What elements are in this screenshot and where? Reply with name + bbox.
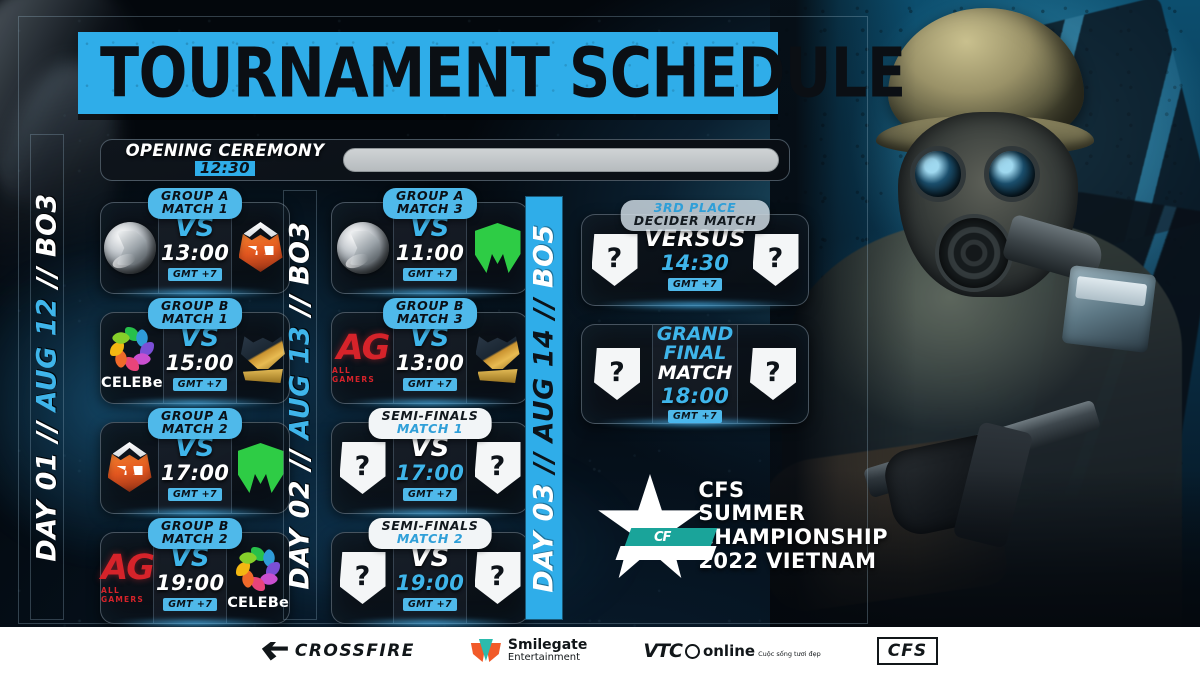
match-time: 19:00 xyxy=(396,571,464,595)
match-tag-line2: MATCH 2 xyxy=(382,533,479,546)
title-banner: TOURNAMENT SCHEDULE xyxy=(78,32,778,114)
page-title: TOURNAMENT SCHEDULE xyxy=(100,27,730,119)
match-tag-line2: MATCH 1 xyxy=(161,313,229,326)
green-shield-logo-icon xyxy=(475,223,521,273)
vtc-circle-icon xyxy=(685,644,700,659)
sphere-logo-icon xyxy=(337,222,389,274)
day-number-3: DAY 03 xyxy=(529,482,560,592)
match-card[interactable]: SEMI-FINALS MATCH 1 ? VS 17:00 GMT +7 ? xyxy=(331,422,529,514)
vs-label: VS xyxy=(180,325,220,351)
day-label-2: DAY 02 // AUG 13 // BO3 xyxy=(283,190,317,620)
day-date-2: AUG 13 xyxy=(285,325,316,439)
match-card[interactable]: GROUP B MATCH 3 AGALL GAMERS VS 13:00 GM… xyxy=(331,312,529,404)
day-label-3: DAY 03 // AUG 14 // BO5 xyxy=(525,196,563,620)
crossfire-label: CROSSFIRE xyxy=(295,641,415,661)
match-card[interactable]: GROUP B MATCH 1 CELEBe VS 15:00 GMT +7 xyxy=(100,312,290,404)
match-tag-line2: MATCH 3 xyxy=(396,313,464,326)
match-tag: GROUP B MATCH 3 xyxy=(383,298,477,329)
event-logo: CF CFS SUMMER CHAMPIONSHIP 2022 VIETNAM xyxy=(596,474,936,578)
team-right xyxy=(232,203,289,293)
day-format-1: BO3 xyxy=(32,193,63,257)
match-time: 11:00 xyxy=(396,241,464,265)
team-left xyxy=(332,203,393,293)
vs-label: VS xyxy=(175,215,215,241)
grand-final-info: GRAND FINAL MATCH 18:00 GMT +7 xyxy=(652,325,738,423)
tbd-shield-logo-icon: ? xyxy=(340,442,386,494)
celebe-logo-icon: CELEBe xyxy=(227,546,289,611)
vtc-online-label: online xyxy=(703,642,755,660)
team-left xyxy=(101,203,158,293)
match-card[interactable]: 3RD PLACE DECIDER MATCH ? VERSUS 14:30 G… xyxy=(581,214,809,306)
match-tag: 3RD PLACE DECIDER MATCH xyxy=(621,200,770,231)
celebe-label: CELEBe xyxy=(227,595,289,611)
vs-label: VS xyxy=(410,545,450,571)
event-line-3: 2022 VIETNAM xyxy=(698,550,936,574)
allgamers-logo-icon: AGALL GAMERS xyxy=(101,552,153,604)
match-time: 18:00 xyxy=(661,384,729,408)
celebe-logo-icon: CELEBe xyxy=(101,326,163,391)
day-column-1: DAY 01 // AUG 12 // BO3 OPENING CEREMONY… xyxy=(30,134,290,620)
vs-label: VS xyxy=(410,215,450,241)
sponsor-vtc-online: VTC online Cuộc sống tươi đẹp xyxy=(643,640,820,662)
tbd-shield-logo-icon: ? xyxy=(750,348,796,400)
smilegate-label: Smilegate xyxy=(508,638,587,653)
vs-label: VERSUS xyxy=(644,229,746,251)
match-time: 17:00 xyxy=(396,461,464,485)
match-timezone: GMT +7 xyxy=(403,488,457,501)
match-timezone: GMT +7 xyxy=(403,378,457,391)
match-timezone: GMT +7 xyxy=(403,598,457,611)
grand-final-card[interactable]: ? GRAND FINAL MATCH 18:00 GMT +7 ? xyxy=(581,324,809,424)
match-timezone: GMT +7 xyxy=(168,488,222,501)
team-right xyxy=(467,203,528,293)
match-time: 15:00 xyxy=(166,351,234,375)
tbd-shield-logo-icon: ? xyxy=(340,552,386,604)
myth-logo-icon xyxy=(237,333,289,383)
team-left: AGALL GAMERS xyxy=(101,533,153,623)
tbd-shield-logo-icon: ? xyxy=(592,234,638,286)
team-right xyxy=(232,423,289,513)
vs-label: VS xyxy=(410,325,450,351)
match-time: 14:30 xyxy=(661,251,729,275)
gamehome-logo-icon xyxy=(106,442,154,494)
vtc-slogan: Cuộc sống tươi đẹp xyxy=(758,650,821,658)
sponsor-cfs: CFS xyxy=(877,637,938,665)
cfs-label: CFS xyxy=(888,641,927,661)
match-timezone: GMT +7 xyxy=(173,378,227,391)
match-timezone: GMT +7 xyxy=(668,278,722,291)
match-tag-line2: MATCH 2 xyxy=(161,533,229,546)
green-shield-logo-icon xyxy=(238,443,284,493)
match-tag-line2: MATCH 3 xyxy=(396,203,464,216)
opening-ceremony-label: OPENING CEREMONY xyxy=(111,143,339,160)
sphere-logo-icon xyxy=(104,222,156,274)
day-format-2: BO3 xyxy=(285,221,316,285)
match-tag-line2: MATCH 1 xyxy=(382,423,479,436)
celebe-label: CELEBe xyxy=(101,375,163,391)
tbd-shield-logo-icon: ? xyxy=(594,348,640,400)
event-line-2: SUMMER CHAMPIONSHIP xyxy=(698,502,936,549)
match-time: 13:00 xyxy=(396,351,464,375)
team-right xyxy=(237,313,289,403)
match-timezone: GMT +7 xyxy=(668,410,722,423)
gamehome-logo-icon xyxy=(237,222,285,274)
grand-final-line3: MATCH xyxy=(658,364,733,384)
day-number-1: DAY 01 xyxy=(32,451,63,561)
team-left xyxy=(101,423,158,513)
tbd-shield-logo-icon: ? xyxy=(475,442,521,494)
match-tag-line2: MATCH 1 xyxy=(161,203,229,216)
event-line-1: CFS xyxy=(698,479,936,503)
match-timezone: GMT +7 xyxy=(168,268,222,281)
match-time: 17:00 xyxy=(161,461,229,485)
smilegate-logo-icon xyxy=(471,639,501,663)
sponsor-crossfire: CROSSFIRE xyxy=(262,641,415,661)
match-card[interactable]: GROUP B MATCH 2 AGALL GAMERS VS 19:00 GM… xyxy=(100,532,290,624)
opening-ceremony-time: 12:30 xyxy=(195,161,255,176)
sponsor-footer: CROSSFIRE Smilegate Entertainment VTC on… xyxy=(0,627,1200,675)
opening-ceremony-bar: OPENING CEREMONY 12:30 xyxy=(100,139,790,181)
match-tag-line2: MATCH 2 xyxy=(161,423,229,436)
day-number-2: DAY 02 xyxy=(285,479,316,589)
myth-logo-icon xyxy=(472,333,524,383)
match-card[interactable]: GROUP A MATCH 1 VS 13:00 GMT +7 xyxy=(100,202,290,294)
allgamers-logo-icon: AGALL GAMERS xyxy=(332,332,393,384)
match-time: 19:00 xyxy=(156,571,224,595)
team-left: AGALL GAMERS xyxy=(332,313,393,403)
tbd-shield-logo-icon: ? xyxy=(753,234,799,286)
vs-label: VS xyxy=(175,435,215,461)
match-card[interactable]: GROUP A MATCH 2 VS 17:00 GMT +7 xyxy=(100,422,290,514)
day-date-3: AUG 14 xyxy=(529,328,560,442)
opening-ceremony-placeholder-bar xyxy=(343,148,779,172)
match-tag: GROUP B MATCH 1 xyxy=(148,298,242,329)
tbd-shield-logo-icon: ? xyxy=(475,552,521,604)
smilegate-sublabel: Entertainment xyxy=(508,653,587,664)
match-tag: GROUP A MATCH 1 xyxy=(148,188,242,219)
match-card[interactable]: SEMI-FINALS MATCH 2 ? VS 19:00 GMT +7 ? xyxy=(331,532,529,624)
match-tag-line2: DECIDER MATCH xyxy=(634,215,757,228)
match-tag: GROUP B MATCH 2 xyxy=(148,518,242,549)
match-timezone: GMT +7 xyxy=(403,268,457,281)
match-tag: GROUP A MATCH 2 xyxy=(148,408,242,439)
team-right: ? xyxy=(738,325,808,423)
team-left: ? xyxy=(582,325,652,423)
match-tag: GROUP A MATCH 3 xyxy=(383,188,477,219)
cf-star-logo-icon: CF xyxy=(596,474,680,578)
match-card[interactable]: GROUP A MATCH 3 VS 11:00 GMT +7 xyxy=(331,202,529,294)
match-time: 13:00 xyxy=(161,241,229,265)
day-format-3: BO5 xyxy=(529,224,560,288)
opening-ceremony-text: OPENING CEREMONY 12:30 xyxy=(111,143,339,177)
match-timezone: GMT +7 xyxy=(163,598,217,611)
team-right xyxy=(467,313,528,403)
day-label-1: DAY 01 // AUG 12 // BO3 xyxy=(30,134,64,620)
grand-final-line2: FINAL xyxy=(664,344,727,363)
vs-label: VS xyxy=(170,545,210,571)
vtc-label: VTC xyxy=(643,640,682,662)
sponsor-smilegate: Smilegate Entertainment xyxy=(471,638,587,663)
match-tag: SEMI-FINALS MATCH 1 xyxy=(369,408,492,439)
event-title-block: CFS SUMMER CHAMPIONSHIP 2022 VIETNAM xyxy=(698,479,936,573)
day-date-1: AUG 12 xyxy=(32,297,63,411)
match-tag: SEMI-FINALS MATCH 2 xyxy=(369,518,492,549)
day-column-2: DAY 02 // AUG 13 // BO3 GROUP A MATCH 3 … xyxy=(283,190,548,620)
crossfire-logo-icon xyxy=(262,642,288,661)
vs-label: VS xyxy=(410,435,450,461)
